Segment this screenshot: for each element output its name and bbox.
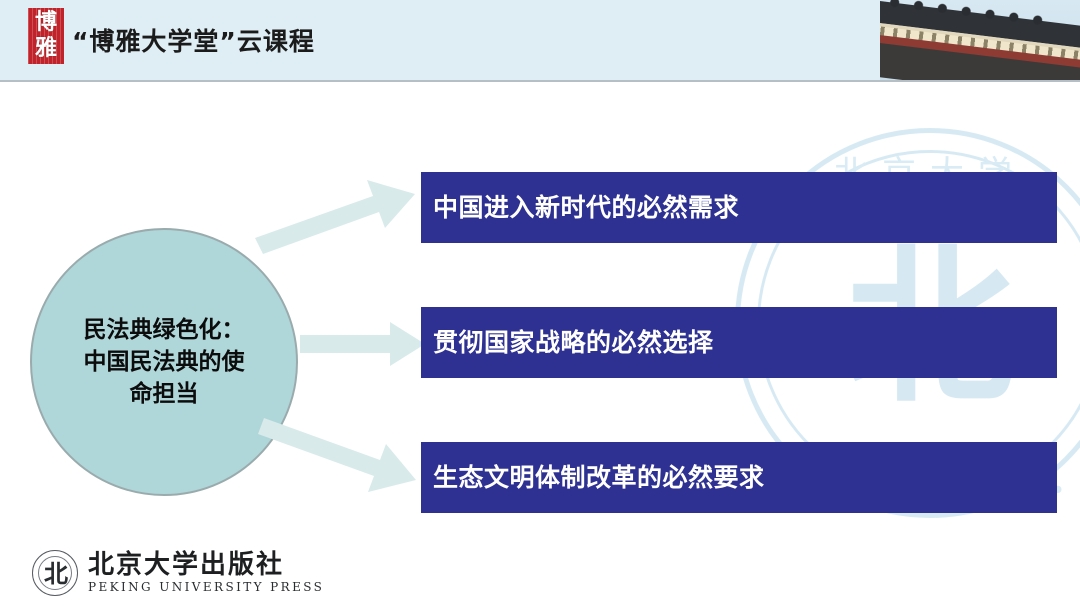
pku-seal-mark: 北 [33,551,79,597]
topic-circle-label: 民法典绿色化： 中国民法典的使 命担当 [59,314,269,410]
page-title: “博雅大学堂”云课程 [72,22,315,58]
roof-eaves-photo [880,0,1080,80]
publisher-name-en: PEKING UNIVERSITY PRESS [88,579,324,595]
publisher-names: 北京大学出版社 PEKING UNIVERSITY PRESS [88,551,324,595]
statement-box-1[interactable]: 中国进入新时代的必然需求 [421,172,1057,243]
pku-seal-icon: 北 [32,550,78,596]
arrow-to-box-2 [300,322,425,366]
slide-header: 博 雅 “博雅大学堂”云课程 [0,0,1080,82]
publisher-name-cn: 北京大学出版社 [88,551,324,579]
seal-char-bottom: 雅 [28,36,64,62]
slide-canvas: 博 雅 “博雅大学堂”云课程 北京大学 北大 · 1902 · 民法典绿色化： … [0,0,1080,607]
publisher-logo: 北 北京大学出版社 PEKING UNIVERSITY PRESS [32,550,324,596]
boya-seal-logo: 博 雅 [28,8,64,64]
statement-box-2-label: 贯彻国家战略的必然选择 [421,329,714,357]
statement-box-3-label: 生态文明体制改革的必然要求 [421,464,765,492]
seal-char-top: 博 [28,10,64,36]
statement-box-2[interactable]: 贯彻国家战略的必然选择 [421,307,1057,378]
statement-box-1-label: 中国进入新时代的必然需求 [421,194,739,222]
arrow-to-box-3 [258,418,436,496]
statement-box-3[interactable]: 生态文明体制改革的必然要求 [421,442,1057,513]
arrow-to-box-1 [255,180,435,260]
